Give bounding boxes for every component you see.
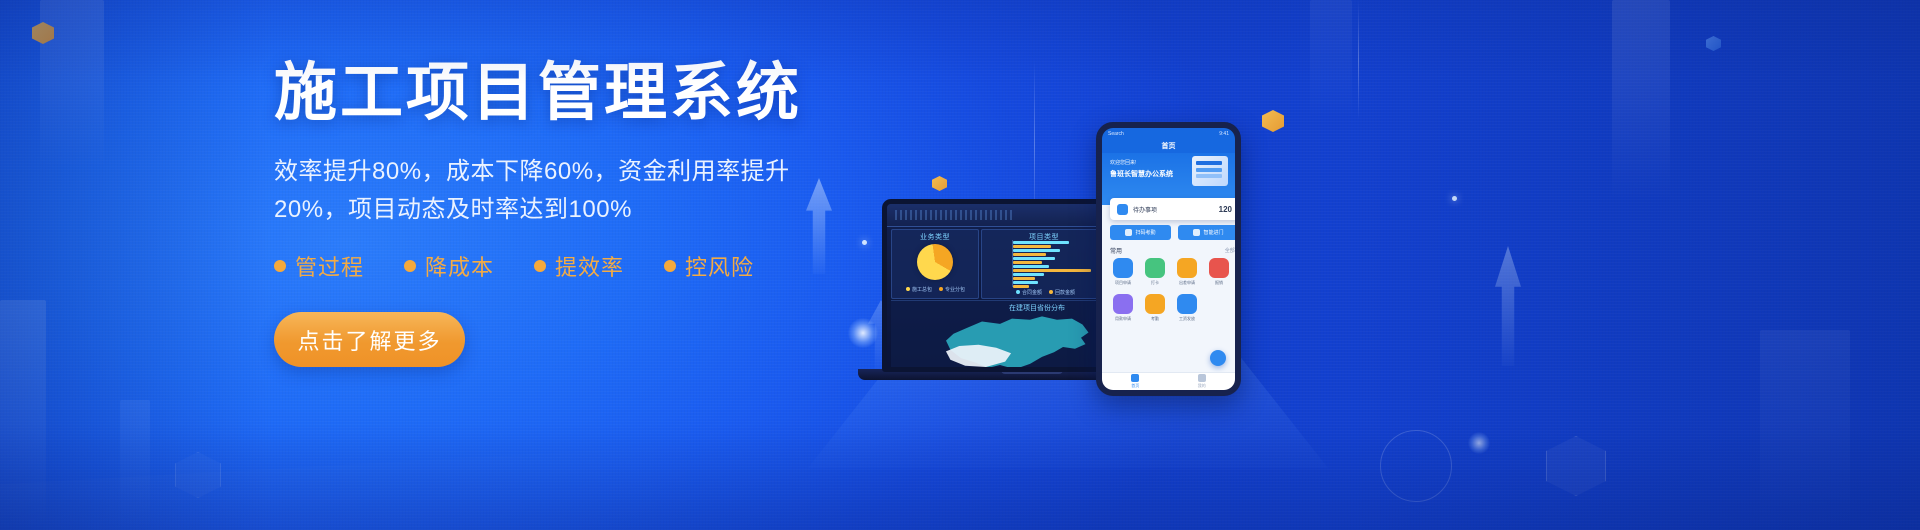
section-header-common: 常用 全部 > — [1110, 246, 1239, 255]
action-scan-attendance[interactable]: 扫码考勤 — [1110, 225, 1171, 240]
feature-bullet-3: 提效率 — [534, 250, 624, 282]
feature-bullet-label: 降成本 — [425, 250, 494, 282]
door-icon — [1193, 229, 1200, 236]
panel-project-type: 项目类型 — [981, 229, 1107, 299]
subtitle-line-1: 效率提升80%，成本下降60%，资金利用率提升 — [274, 153, 794, 192]
app-label: 项目申请 — [1115, 280, 1131, 286]
legend-item: 回款金额 — [1049, 289, 1075, 296]
salary-icon — [1177, 294, 1197, 314]
app-grid-row-1: 项目申请 打卡 出差申请 报销 — [1110, 258, 1239, 286]
feature-bullet-4: 控风险 — [664, 250, 754, 282]
app-item-attendance[interactable]: 考勤 — [1142, 294, 1168, 322]
legend-item: 施工总包 — [906, 286, 932, 293]
panel-business-type: 业务类型 施工总包 专业分包 — [891, 229, 979, 299]
app-label: 报销 — [1215, 280, 1223, 286]
bullet-dot-icon — [534, 260, 546, 272]
pie-chart — [917, 244, 953, 280]
section-more-link[interactable]: 全部 > — [1225, 247, 1239, 254]
app-item-punch[interactable]: 打卡 — [1142, 258, 1168, 286]
app-label: 用款申请 — [1115, 316, 1131, 322]
app-item-payment-apply[interactable]: 用款申请 — [1110, 294, 1136, 322]
bullet-dot-icon — [404, 260, 416, 272]
todo-value: 120 — [1219, 205, 1232, 214]
legend-item: 专业分包 — [939, 286, 965, 293]
status-right-text: 9:41 — [1219, 131, 1229, 137]
dashboard-header-decor — [895, 210, 1015, 220]
reimburse-icon — [1209, 258, 1229, 278]
todo-card[interactable]: 待办事项 120 — [1110, 198, 1239, 220]
app-label: 工资发放 — [1179, 316, 1195, 322]
feature-bullet-label: 控风险 — [685, 250, 754, 282]
app-item-reimburse[interactable]: 报销 — [1206, 258, 1232, 286]
bar-chart — [1012, 240, 1100, 287]
subtitle-line-2: 20%，项目动态及时率达到100% — [274, 191, 794, 230]
action-smart-entry[interactable]: 智能进门 — [1178, 225, 1239, 240]
panel-title: 业务类型 — [892, 232, 978, 242]
home-icon — [1131, 374, 1139, 382]
scan-icon — [1125, 229, 1132, 236]
app-item-project-apply[interactable]: 项目申请 — [1110, 258, 1136, 286]
decor-bar — [40, 0, 104, 168]
pie-legend: 施工总包 专业分包 — [906, 286, 965, 293]
section-title: 常用 — [1110, 246, 1122, 255]
app-item-travel-apply[interactable]: 出差申请 — [1174, 258, 1200, 286]
quick-actions: 扫码考勤 智能进门 — [1110, 225, 1239, 240]
feature-bullet-1: 管过程 — [274, 250, 364, 282]
app-item-salary[interactable]: 工资发放 — [1174, 294, 1200, 322]
app-label: 打卡 — [1151, 280, 1159, 286]
phone-nav-title: 首页 — [1102, 139, 1235, 153]
app-label: 考勤 — [1151, 316, 1159, 322]
todo-icon — [1117, 204, 1128, 215]
learn-more-button[interactable]: 点击了解更多 — [274, 312, 465, 367]
hero-illustration — [1192, 156, 1228, 186]
status-left-text: Search — [1108, 131, 1124, 137]
todo-label: 待办事项 — [1133, 205, 1157, 214]
bullet-dot-icon — [274, 260, 286, 272]
tab-home[interactable]: 首页 — [1131, 374, 1139, 389]
punch-icon — [1145, 258, 1165, 278]
action-label: 扫码考勤 — [1135, 229, 1155, 236]
bar-legend: 合同金额 回款金额 — [1016, 289, 1075, 296]
payment-apply-icon — [1113, 294, 1133, 314]
project-apply-icon — [1113, 258, 1133, 278]
feature-bullet-label: 提效率 — [555, 250, 624, 282]
tab-label: 首页 — [1131, 383, 1139, 389]
device-mockups: 市场管理报表 业务类型 施工总包 专业分包 项目类型 — [800, 0, 1920, 530]
phone-mockup: Search 9:41 首页 欢迎您回来! 鲁班长智慧办公系统 待办事项 120 — [1096, 122, 1241, 396]
floating-action-button[interactable] — [1210, 350, 1226, 366]
phone-status-bar: Search 9:41 — [1102, 128, 1235, 139]
app-grid-row-2: 用款申请 考勤 工资发放 — [1110, 294, 1239, 322]
action-label: 智能进门 — [1203, 229, 1223, 236]
feature-bullet-label: 管过程 — [295, 250, 364, 282]
banner-subtitle: 效率提升80%，成本下降60%，资金利用率提升 20%，项目动态及时率达到100… — [274, 153, 794, 231]
legend-item: 合同金额 — [1016, 289, 1042, 296]
phone-tab-bar: 首页 我的 — [1102, 372, 1235, 390]
decor-hexagon-icon — [32, 22, 54, 44]
travel-apply-icon — [1177, 258, 1197, 278]
feature-bullet-2: 降成本 — [404, 250, 494, 282]
attendance-icon — [1145, 294, 1165, 314]
tab-label: 我的 — [1198, 383, 1206, 389]
promo-banner: 施工项目管理系统 效率提升80%，成本下降60%，资金利用率提升 20%，项目动… — [0, 0, 1920, 530]
bullet-dot-icon — [664, 260, 676, 272]
person-icon — [1198, 374, 1206, 382]
tab-profile[interactable]: 我的 — [1198, 374, 1206, 389]
app-label: 出差申请 — [1179, 280, 1195, 286]
